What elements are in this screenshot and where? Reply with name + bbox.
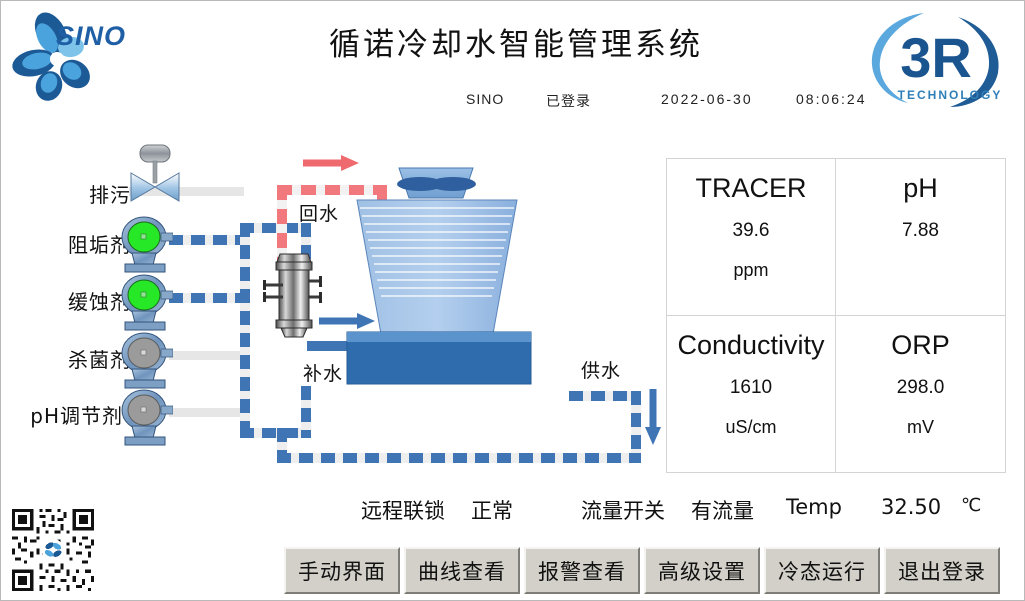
pipe-sidestream-left bbox=[240, 223, 250, 438]
logout-button[interactable]: 退出登录 bbox=[884, 547, 1000, 594]
label-supply-water: 供水 bbox=[581, 356, 621, 383]
pipe-antiscalant-feed bbox=[169, 235, 249, 245]
supply-flow-arrow-icon bbox=[643, 389, 663, 445]
water-analyzer-icon[interactable] bbox=[263, 249, 325, 339]
temperature-label: Temp bbox=[786, 495, 842, 519]
logged-in-user: SINO bbox=[466, 91, 504, 107]
current-time: 08:06:24 bbox=[796, 91, 867, 107]
cooling-tower-graphic bbox=[341, 166, 601, 416]
pump-biocide[interactable] bbox=[117, 331, 173, 389]
flowswitch-value: 有流量 bbox=[691, 495, 754, 525]
measurement-unit: ppm bbox=[733, 260, 768, 281]
measurement-cell-ph: pH 7.88 bbox=[836, 159, 1005, 316]
blowdown-valve-icon[interactable] bbox=[123, 143, 193, 205]
interlock-value: 正常 bbox=[471, 495, 513, 525]
label-ph-adjuster: pH调节剂 bbox=[0, 400, 123, 429]
manual-interface-button[interactable]: 手动界面 bbox=[284, 547, 400, 594]
measurement-value: 39.6 bbox=[733, 220, 770, 242]
qr-code bbox=[9, 506, 97, 594]
navigation-button-bar: 手动界面 曲线查看 报警查看 高级设置 冷态运行 退出登录 bbox=[284, 547, 1000, 595]
measurement-value: 298.0 bbox=[897, 377, 945, 399]
login-state: 已登录 bbox=[546, 91, 591, 111]
measurement-panel: TRACER 39.6 ppm pH 7.88 Conductivity 161… bbox=[666, 158, 1006, 473]
3r-logo-subtext: TECHNOLOGY bbox=[898, 88, 1003, 102]
pipe-supply-bottom bbox=[277, 453, 641, 463]
application-window: SINO 循诺冷却水智能管理系统 SINO 已登录 2022-06-30 08:… bbox=[0, 0, 1025, 601]
advanced-settings-button[interactable]: 高级设置 bbox=[644, 547, 760, 594]
label-antiscalant: 阻垢剂 bbox=[1, 229, 131, 258]
measurement-unit: uS/cm bbox=[725, 417, 776, 438]
label-makeup-water: 补水 bbox=[303, 359, 343, 386]
trend-curve-button[interactable]: 曲线查看 bbox=[404, 547, 520, 594]
pump-corrosion-inhibitor[interactable] bbox=[117, 273, 173, 331]
flowswitch-label: 流量开关 bbox=[581, 495, 665, 525]
pipe-supply-return-left bbox=[277, 428, 287, 463]
temperature-value: 32.50 bbox=[881, 495, 941, 519]
pipe-biocide-feed bbox=[169, 351, 249, 360]
page-title: 循诺冷却水智能管理系统 bbox=[256, 19, 776, 64]
pipe-ph-feed bbox=[169, 408, 249, 417]
sino-wordmark: SINO bbox=[56, 21, 126, 52]
label-biocide: 杀菌剂 bbox=[1, 344, 131, 373]
measurement-name: TRACER bbox=[695, 173, 806, 204]
measurement-unit: mV bbox=[907, 417, 934, 438]
pipe-inhibitor-feed bbox=[169, 293, 249, 303]
label-return-water: 回水 bbox=[299, 199, 339, 226]
measurement-value: 1610 bbox=[730, 377, 772, 399]
measurement-value: 7.88 bbox=[902, 220, 939, 242]
pump-ph-adjuster[interactable] bbox=[117, 388, 173, 446]
pump-antiscalant[interactable] bbox=[117, 215, 173, 273]
interlock-label: 远程联锁 bbox=[361, 495, 445, 525]
measurement-cell-orp: ORP 298.0 mV bbox=[836, 316, 1005, 473]
pipe-sidestream-from-analyzer bbox=[301, 386, 311, 438]
3r-logo-text: 3R bbox=[900, 26, 972, 89]
pipe-sidestream-bottom bbox=[240, 428, 310, 438]
label-blowdown: 排污 bbox=[1, 179, 131, 208]
cold-start-button[interactable]: 冷态运行 bbox=[764, 547, 880, 594]
measurement-name: pH bbox=[903, 173, 938, 204]
alarm-view-button[interactable]: 报警查看 bbox=[524, 547, 640, 594]
measurement-cell-tracer: TRACER 39.6 ppm bbox=[667, 159, 836, 316]
measurement-name: Conductivity bbox=[677, 330, 824, 361]
3r-technology-logo: 3R TECHNOLOGY bbox=[862, 7, 1012, 112]
label-corrosion-inhibitor: 缓蚀剂 bbox=[1, 286, 131, 315]
measurement-cell-conductivity: Conductivity 1610 uS/cm bbox=[667, 316, 836, 473]
temperature-unit: ℃ bbox=[961, 495, 981, 516]
measurement-name: ORP bbox=[891, 330, 950, 361]
current-date: 2022-06-30 bbox=[661, 91, 753, 107]
